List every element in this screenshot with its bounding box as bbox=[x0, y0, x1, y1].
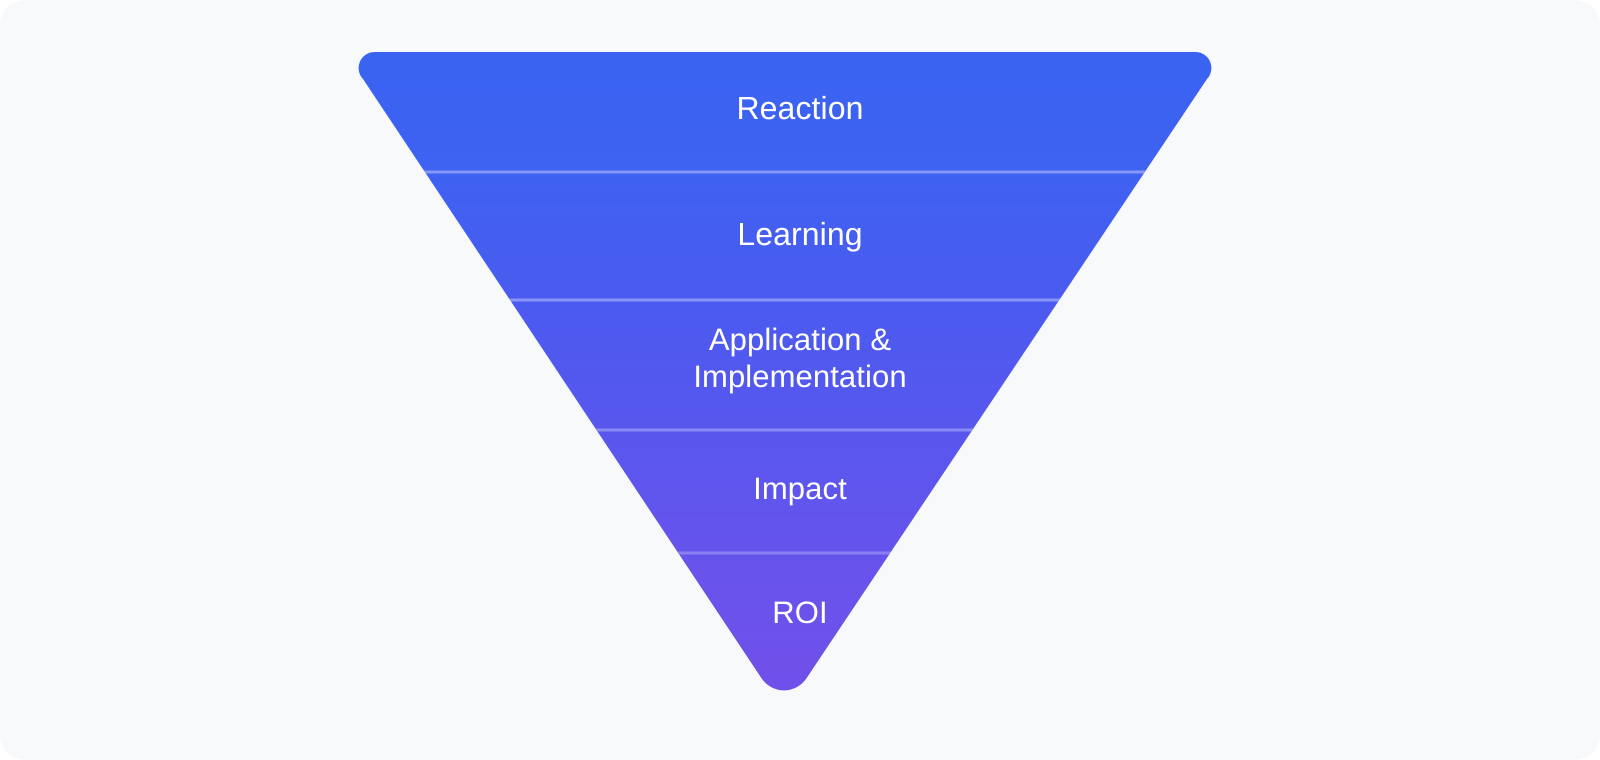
funnel-divider-3 bbox=[0, 429, 1600, 432]
funnel-divider-2 bbox=[0, 299, 1600, 302]
funnel-body bbox=[359, 52, 1212, 690]
funnel-diagram: Reaction Learning Application & Implemen… bbox=[0, 0, 1600, 760]
funnel-svg bbox=[0, 0, 1600, 760]
funnel-divider-4 bbox=[0, 552, 1600, 555]
diagram-canvas: Reaction Learning Application & Implemen… bbox=[0, 0, 1600, 760]
funnel-divider-1 bbox=[0, 171, 1600, 174]
